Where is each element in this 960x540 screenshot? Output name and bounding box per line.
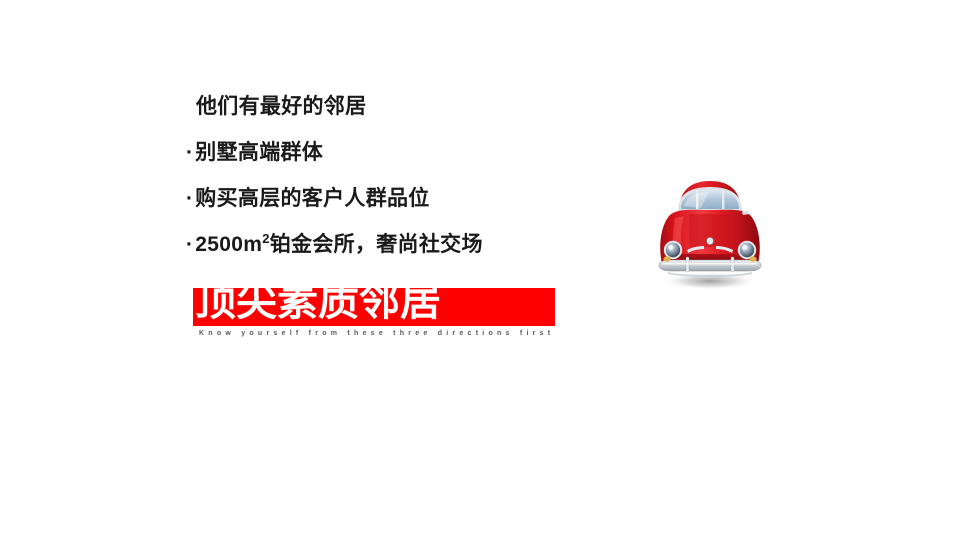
- headlight-right: [740, 243, 754, 257]
- list-item: ·购买高层的客户人群品位: [186, 188, 606, 209]
- bullet-marker-icon: ·: [186, 187, 193, 210]
- area-unit-exponent: 2: [262, 231, 270, 246]
- bullet-marker-icon: ·: [186, 233, 193, 256]
- headlight-left: [666, 243, 680, 257]
- front-bumper: [659, 260, 761, 271]
- hood-emblem: [707, 237, 714, 244]
- list-item: ·别墅高端群体: [186, 142, 606, 163]
- list-item-label: 别墅高端群体: [195, 141, 323, 164]
- banner-subtitle: Know yourself from these three direction…: [199, 330, 554, 337]
- bullet-list: 他们有最好的邻居 ·别墅高端群体 ·购买高层的客户人群品位 ·2500m2铂金会…: [186, 96, 606, 255]
- area-unit: m: [243, 233, 262, 256]
- bumper-highlight: [663, 263, 757, 265]
- list-item-area: ·2500m2铂金会所，奢尚社交场: [186, 234, 606, 255]
- car-photo: [645, 168, 775, 293]
- banner-title: 顶尖素质邻居: [195, 281, 441, 322]
- bullet-marker-icon: ·: [186, 141, 193, 164]
- headlight-left-glint: [668, 245, 673, 250]
- window-pillar-right: [722, 190, 724, 209]
- area-value: 2500: [195, 233, 243, 256]
- heading-line: 他们有最好的邻居: [196, 96, 606, 117]
- headlight-right-glint: [742, 245, 747, 250]
- slide-canvas: 他们有最好的邻居 ·别墅高端群体 ·购买高层的客户人群品位 ·2500m2铂金会…: [0, 0, 960, 540]
- area-suffix-label: 铂金会所，奢尚社交场: [270, 233, 483, 256]
- list-item-label: 购买高层的客户人群品位: [195, 187, 429, 210]
- turn-lamp-left: [663, 256, 670, 261]
- red-classic-car-front-view-icon: [645, 168, 775, 293]
- turn-lamp-right: [749, 256, 756, 261]
